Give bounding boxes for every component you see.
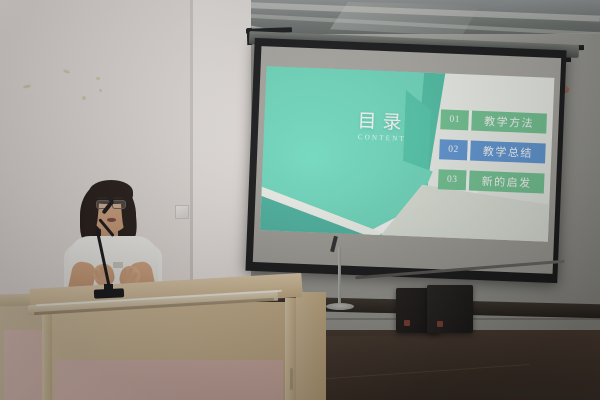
mic-stand-pole xyxy=(338,247,341,307)
slide-toc-number: 01 xyxy=(440,109,469,130)
wall-switch-plate[interactable] xyxy=(175,205,189,219)
shirt-logo xyxy=(113,262,123,268)
slide-toc-item-3: 03 新的启发 xyxy=(438,169,545,193)
finger xyxy=(122,269,126,279)
mic-stand-base xyxy=(326,303,354,310)
slide-toc-item-1: 01 教学方法 xyxy=(440,109,547,133)
slide-toc-item-2: 02 教学总结 xyxy=(439,139,546,163)
presenter-eyebrow-left xyxy=(97,197,107,199)
presenter-eyebrow-right xyxy=(113,197,123,199)
wall-left-column xyxy=(193,0,251,300)
slide-toc-label: 新的启发 xyxy=(469,171,545,194)
slide-toc-label: 教学总结 xyxy=(470,141,546,164)
wall-left-seam xyxy=(190,0,193,300)
podium-door-handle[interactable] xyxy=(290,368,293,390)
classroom-photo-scene: 目录 CONTENT 01 教学方法 02 教学总结 03 新的启发 xyxy=(0,0,600,400)
wall-blemish xyxy=(82,96,86,100)
slide-toc-number: 03 xyxy=(438,169,467,190)
wall-blemish xyxy=(99,89,102,92)
presenter-mouth xyxy=(107,218,116,222)
podium-right-section xyxy=(296,292,326,400)
projector-screen-icon: 目录 CONTENT 01 教学方法 02 教学总结 03 新的启发 xyxy=(253,46,561,274)
podium-leg-left xyxy=(42,302,52,400)
speaker-icon xyxy=(427,285,473,333)
slide-toc-label: 教学方法 xyxy=(471,111,547,134)
presentation-slide: 目录 CONTENT 01 教学方法 02 教学总结 03 新的启发 xyxy=(260,66,554,241)
slide-toc-number: 02 xyxy=(439,139,468,160)
speaker-badge xyxy=(437,321,443,327)
speaker-badge xyxy=(404,320,410,326)
podium-lower-panel xyxy=(55,360,283,400)
wall-blemish xyxy=(96,77,100,80)
